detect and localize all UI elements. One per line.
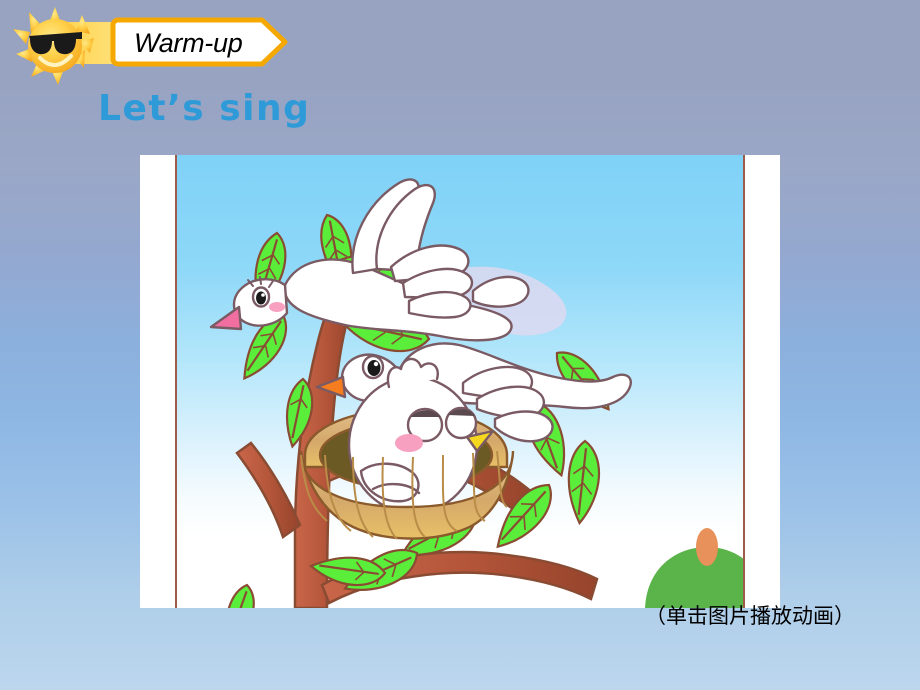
slide-canvas: Warm-up Let’s sing (0, 0, 920, 690)
picture-caption: （单击图片播放动画） (645, 600, 855, 630)
picture-inner-border (175, 155, 745, 608)
picture-frame[interactable] (140, 155, 780, 608)
birds-in-tree-illustration[interactable] (177, 155, 743, 608)
warmup-banner: Warm-up (10, 4, 290, 84)
warmup-label: Warm-up (134, 26, 264, 60)
page-title: Let’s sing (98, 88, 310, 129)
sun-with-sunglasses-icon (10, 6, 118, 88)
